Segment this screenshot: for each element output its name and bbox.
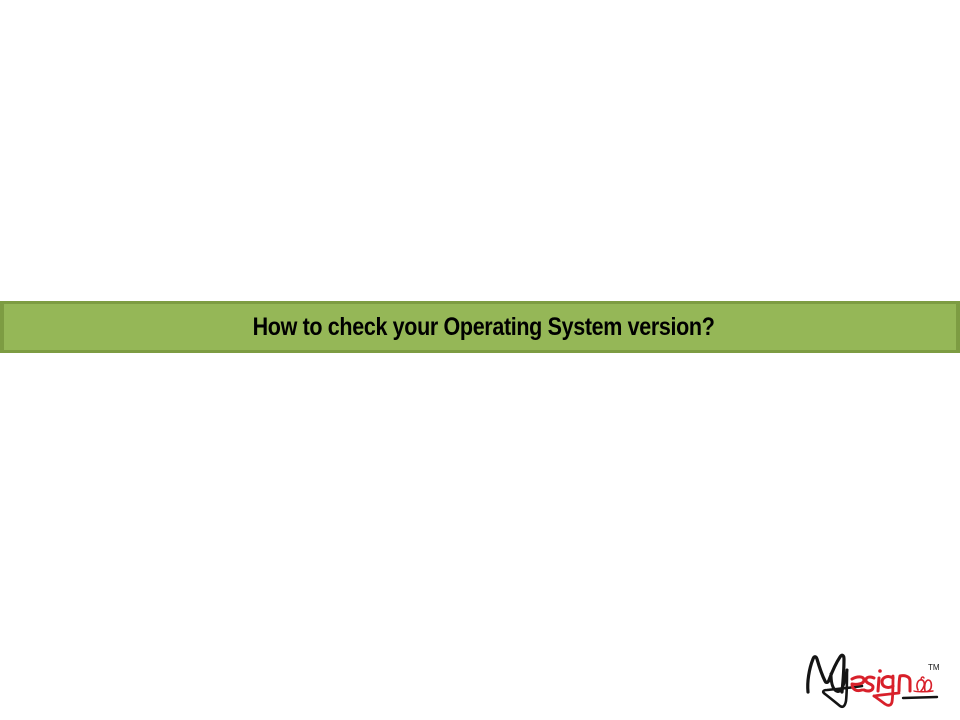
slide-canvas: How to check your Operating System versi…	[0, 0, 960, 720]
logo-letter-m	[808, 655, 844, 692]
mydesign-logo: TM	[800, 648, 950, 712]
seated-figure-doodle	[914, 677, 933, 692]
title-banner: How to check your Operating System versi…	[0, 301, 960, 353]
trademark-mark: TM	[928, 663, 940, 672]
logo-underline	[903, 697, 937, 698]
page-title: How to check your Operating System versi…	[253, 315, 715, 340]
mydesign-logo-artwork: TM	[800, 648, 950, 712]
